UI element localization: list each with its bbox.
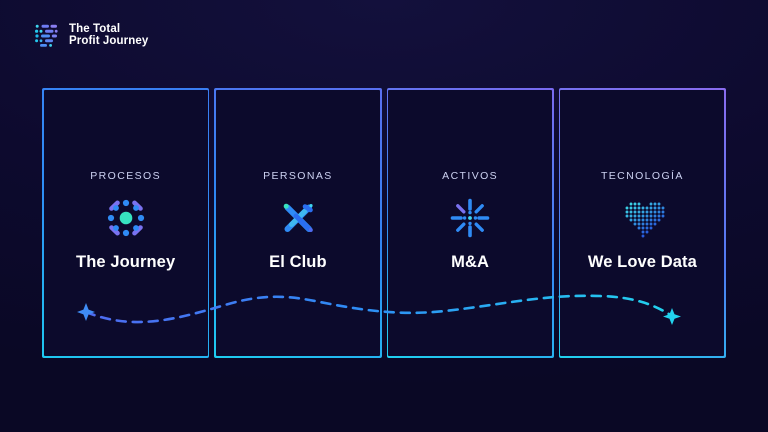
radial-burst-icon <box>447 195 493 241</box>
card-kicker: PERSONAS <box>263 170 333 182</box>
card-kicker: TECNOLOGÍA <box>601 170 684 182</box>
cross-x-icon <box>275 195 321 241</box>
brand-line-2: Profit Journey <box>69 35 148 48</box>
card-kicker: ACTIVOS <box>442 170 498 182</box>
pillar-cards-row: PROCESOS <box>42 88 726 358</box>
slide-canvas: The Total Profit Journey PROCESOS <box>0 0 768 432</box>
card-title: The Journey <box>76 253 175 272</box>
card-title: M&A <box>451 253 489 272</box>
brand-wordmark: The Total Profit Journey <box>69 23 148 48</box>
process-hub-icon <box>103 195 149 241</box>
card-procesos[interactable]: PROCESOS <box>42 88 209 358</box>
brand-logo: The Total Profit Journey <box>34 22 148 48</box>
card-kicker: PROCESOS <box>90 170 161 182</box>
card-title: We Love Data <box>588 253 697 272</box>
card-activos[interactable]: ACTIVOS <box>387 88 554 358</box>
brand-line-1: The Total <box>69 23 148 36</box>
dotted-heart-icon <box>619 195 665 241</box>
card-tecnologia[interactable]: TECNOLOGÍA We Love Data <box>559 88 726 358</box>
dot-bars-logo-icon <box>34 22 60 48</box>
card-title: El Club <box>269 253 327 272</box>
card-personas[interactable]: PERSONAS El <box>214 88 381 358</box>
